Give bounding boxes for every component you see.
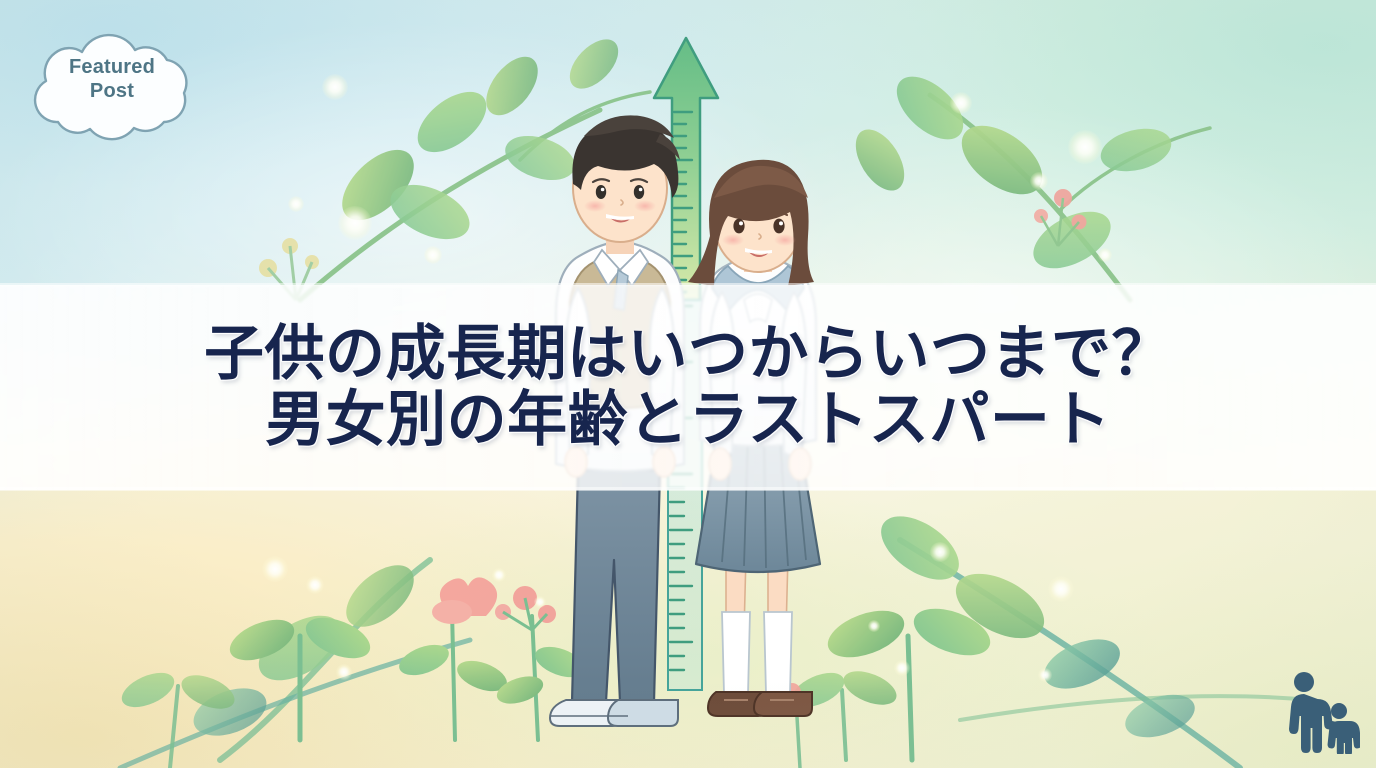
- page-title: 子供の成長期はいつからいつまで？ 男女別の年齢とラストスパート: [0, 285, 1376, 490]
- featured-post-banner: 子供の成長期はいつからいつまで？ 男女別の年齢とラストスパート Featured…: [0, 0, 1376, 768]
- badge-line-2: Post: [90, 79, 134, 103]
- title-line-2: 男女別の年齢とラストスパート: [265, 389, 1111, 453]
- title-line-1: 子供の成長期はいつからいつまで？: [204, 323, 1172, 387]
- parent-child-pictogram-icon: [1278, 668, 1360, 754]
- featured-post-badge-text: Featured Post: [12, 18, 212, 144]
- badge-line-1: Featured: [69, 55, 155, 79]
- featured-post-badge[interactable]: Featured Post: [12, 18, 212, 144]
- parent-and-child-icon[interactable]: [1278, 668, 1360, 754]
